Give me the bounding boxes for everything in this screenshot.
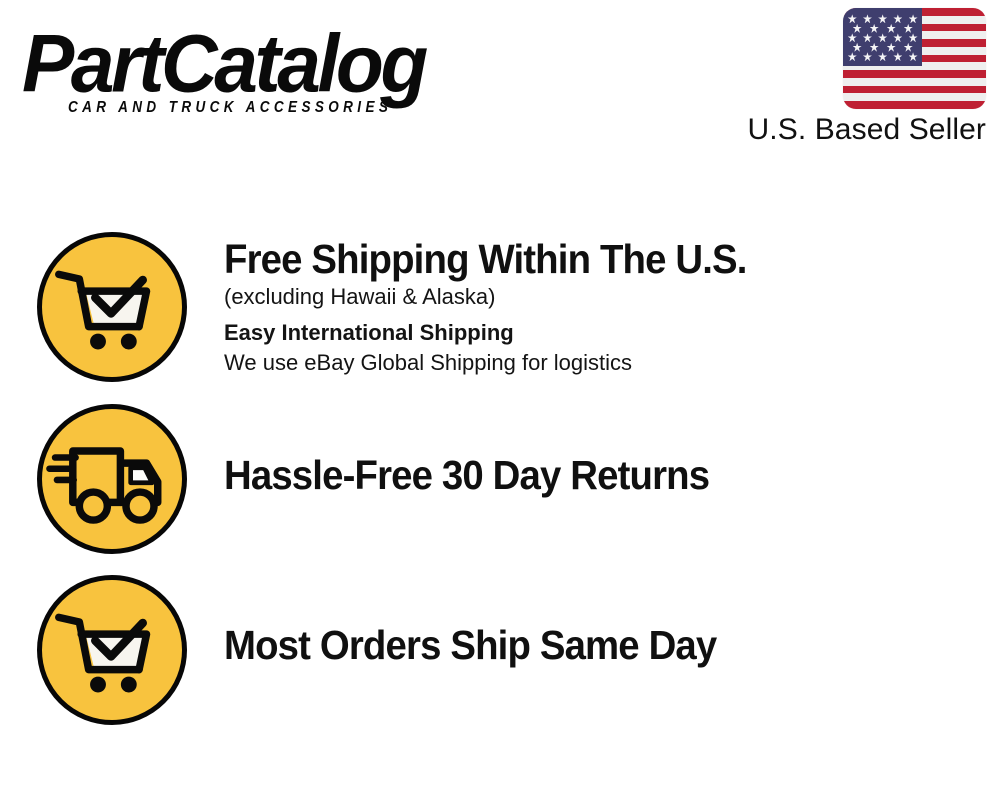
us-based-seller-label: U.S. Based Seller	[748, 113, 986, 147]
feature-icon-wrap	[0, 404, 224, 554]
brand-logo: PartCatalog CAR AND TRUCK ACCESSORIES	[22, 22, 492, 122]
feature-icon-wrap	[0, 232, 224, 382]
promo-banner: PartCatalog CAR AND TRUCK ACCESSORIES	[0, 0, 1000, 800]
feature-title: Hassle-Free 30 Day Returns	[224, 452, 950, 498]
feature-row-free-shipping: Free Shipping Within The U.S. (excluding…	[0, 232, 1000, 404]
feature-row-returns: Hassle-Free 30 Day Returns	[0, 404, 1000, 575]
feature-note: (excluding Hawaii & Alaska)	[224, 282, 1000, 312]
shopping-cart-check-icon	[37, 575, 187, 725]
feature-text-block: Hassle-Free 30 Day Returns	[224, 404, 1000, 498]
flag-stars	[843, 8, 922, 66]
us-flag-icon	[843, 8, 986, 109]
brand-tagline: CAR AND TRUCK ACCESSORIES	[68, 98, 392, 115]
feature-list: Free Shipping Within The U.S. (excluding…	[0, 232, 1000, 747]
feature-row-same-day-ship: Most Orders Ship Same Day	[0, 575, 1000, 747]
shopping-cart-check-icon	[37, 232, 187, 382]
delivery-truck-icon	[37, 404, 187, 554]
flag-canton	[843, 8, 922, 66]
feature-title: Most Orders Ship Same Day	[224, 622, 950, 668]
feature-sub-text: We use eBay Global Shipping for logistic…	[224, 348, 1000, 378]
feature-sub-heading: Easy International Shipping	[224, 318, 1000, 348]
us-based-seller-badge: U.S. Based Seller	[714, 8, 986, 147]
feature-title: Free Shipping Within The U.S.	[224, 236, 950, 282]
feature-text-block: Free Shipping Within The U.S. (excluding…	[224, 232, 1000, 378]
feature-icon-wrap	[0, 575, 224, 725]
feature-text-block: Most Orders Ship Same Day	[224, 575, 1000, 668]
brand-name: PartCatalog	[22, 22, 425, 106]
